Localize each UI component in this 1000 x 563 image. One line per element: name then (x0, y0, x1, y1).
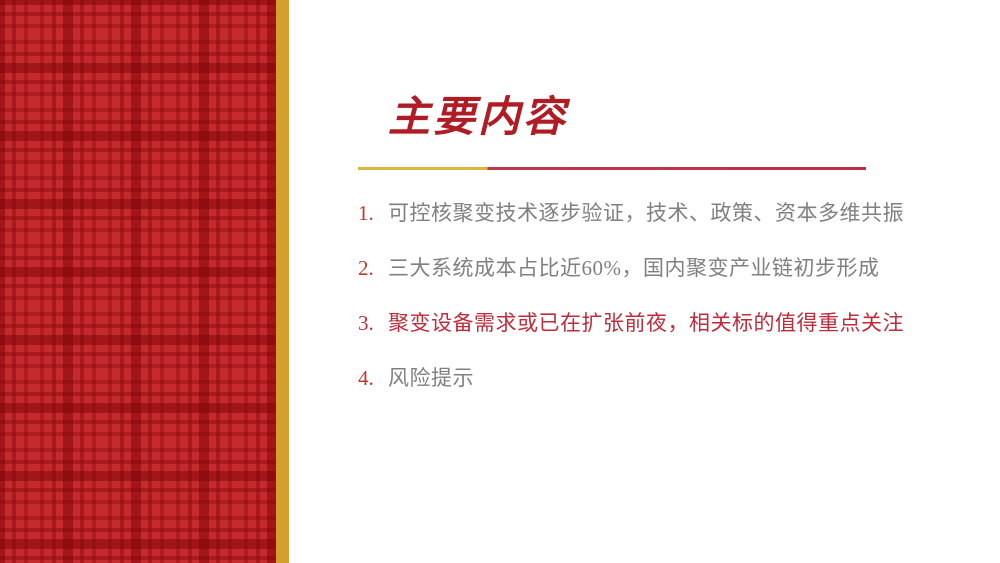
title-divider (358, 167, 866, 170)
list-item[interactable]: 4. 风险提示 (358, 362, 978, 417)
page-title: 主要内容 (388, 92, 568, 145)
presentation-slide: 主要内容 1. 可控核聚变技术逐步验证，技术、政策、资本多维共振 2. 三大系统… (0, 0, 1000, 563)
list-item-number: 3. (358, 311, 388, 336)
list-item-number: 1. (358, 201, 388, 226)
meander-pattern-texture (0, 0, 276, 563)
decorative-left-panel (0, 0, 276, 563)
list-item-active[interactable]: 3. 聚变设备需求或已在扩张前夜，相关标的值得重点关注 (358, 307, 978, 362)
table-of-contents-list: 1. 可控核聚变技术逐步验证，技术、政策、资本多维共振 2. 三大系统成本占比近… (358, 197, 978, 417)
list-item[interactable]: 2. 三大系统成本占比近60%，国内聚变产业链初步形成 (358, 252, 978, 307)
slide-content-area: 主要内容 1. 可控核聚变技术逐步验证，技术、政策、资本多维共振 2. 三大系统… (289, 0, 1000, 563)
list-item[interactable]: 1. 可控核聚变技术逐步验证，技术、政策、资本多维共振 (358, 197, 978, 252)
gold-accent-stripe (276, 0, 289, 563)
list-item-label: 可控核聚变技术逐步验证，技术、政策、资本多维共振 (388, 197, 904, 227)
list-item-label: 风险提示 (388, 362, 474, 392)
list-item-number: 2. (358, 256, 388, 281)
list-item-label: 三大系统成本占比近60%，国内聚变产业链初步形成 (388, 252, 880, 282)
list-item-number: 4. (358, 366, 388, 391)
list-item-label: 聚变设备需求或已在扩张前夜，相关标的值得重点关注 (388, 307, 904, 337)
